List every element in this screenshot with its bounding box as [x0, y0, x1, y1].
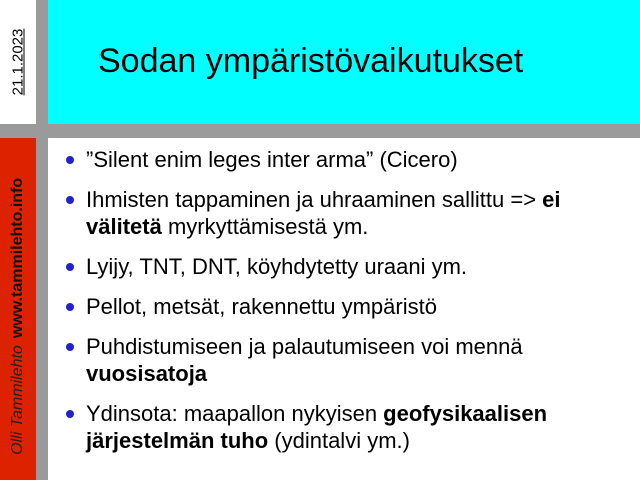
- slide-title-band: Sodan ympäristövaikutukset: [48, 0, 640, 124]
- list-item-text: Lyijy, TNT, DNT, köyhdytetty uraani ym.: [86, 254, 467, 279]
- vertical-separator: [36, 0, 48, 480]
- plain-text: Pellot, metsät, rakennettu ympäristö: [86, 294, 437, 319]
- website-link[interactable]: www.tammilehto.info: [9, 178, 27, 338]
- author-rail: www.tammilehto.info Olli Tammilehto: [0, 138, 36, 480]
- list-item-text: ”Silent enim leges inter arma” (Cicero): [86, 147, 458, 172]
- slide-body: ”Silent enim leges inter arma” (Cicero)I…: [48, 138, 640, 480]
- plain-text: ”Silent enim leges inter arma” (Cicero): [86, 147, 458, 172]
- horizontal-separator: [0, 124, 640, 138]
- list-item: ”Silent enim leges inter arma” (Cicero): [60, 146, 634, 173]
- bullet-dot-icon: [66, 196, 74, 204]
- list-item-text: Ihmisten tappaminen ja uhraaminen sallit…: [86, 187, 561, 239]
- presentation-slide: Sodan ympäristövaikutukset 21.1.2023 www…: [0, 0, 640, 480]
- author-name: Olli Tammilehto: [9, 345, 27, 455]
- bullet-dot-icon: [66, 303, 74, 311]
- bullet-dot-icon: [66, 410, 74, 418]
- bullet-dot-icon: [66, 156, 74, 164]
- plain-text: Ihmisten tappaminen ja uhraaminen sallit…: [86, 187, 542, 212]
- list-item: Lyijy, TNT, DNT, köyhdytetty uraani ym.: [60, 253, 634, 280]
- list-item-text: Puhdistumiseen ja palautumiseen voi menn…: [86, 334, 523, 386]
- bullet-dot-icon: [66, 263, 74, 271]
- list-item: Pellot, metsät, rakennettu ympäristö: [60, 293, 634, 320]
- bullet-list: ”Silent enim leges inter arma” (Cicero)I…: [48, 138, 640, 454]
- list-item-text: Pellot, metsät, rakennettu ympäristö: [86, 294, 437, 319]
- list-item: Puhdistumiseen ja palautumiseen voi menn…: [60, 333, 634, 387]
- list-item: Ihmisten tappaminen ja uhraaminen sallit…: [60, 186, 634, 240]
- emphasis-text: vuosisatoja: [86, 361, 207, 386]
- slide-date: 21.1.2023: [10, 29, 27, 96]
- plain-text: Lyijy, TNT, DNT, köyhdytetty uraani ym.: [86, 254, 467, 279]
- bullet-dot-icon: [66, 343, 74, 351]
- list-item-text: Ydinsota: maapallon nykyisen geofysikaal…: [86, 401, 547, 453]
- plain-text: Puhdistumiseen ja palautumiseen voi menn…: [86, 334, 523, 359]
- plain-text: Ydinsota: maapallon nykyisen: [86, 401, 383, 426]
- list-item: Ydinsota: maapallon nykyisen geofysikaal…: [60, 400, 634, 454]
- plain-text: myrkyttämisestä ym.: [162, 214, 369, 239]
- date-rail: 21.1.2023: [0, 0, 36, 124]
- page-title: Sodan ympäristövaikutukset: [48, 42, 523, 81]
- plain-text: (ydintalvi ym.): [268, 428, 410, 453]
